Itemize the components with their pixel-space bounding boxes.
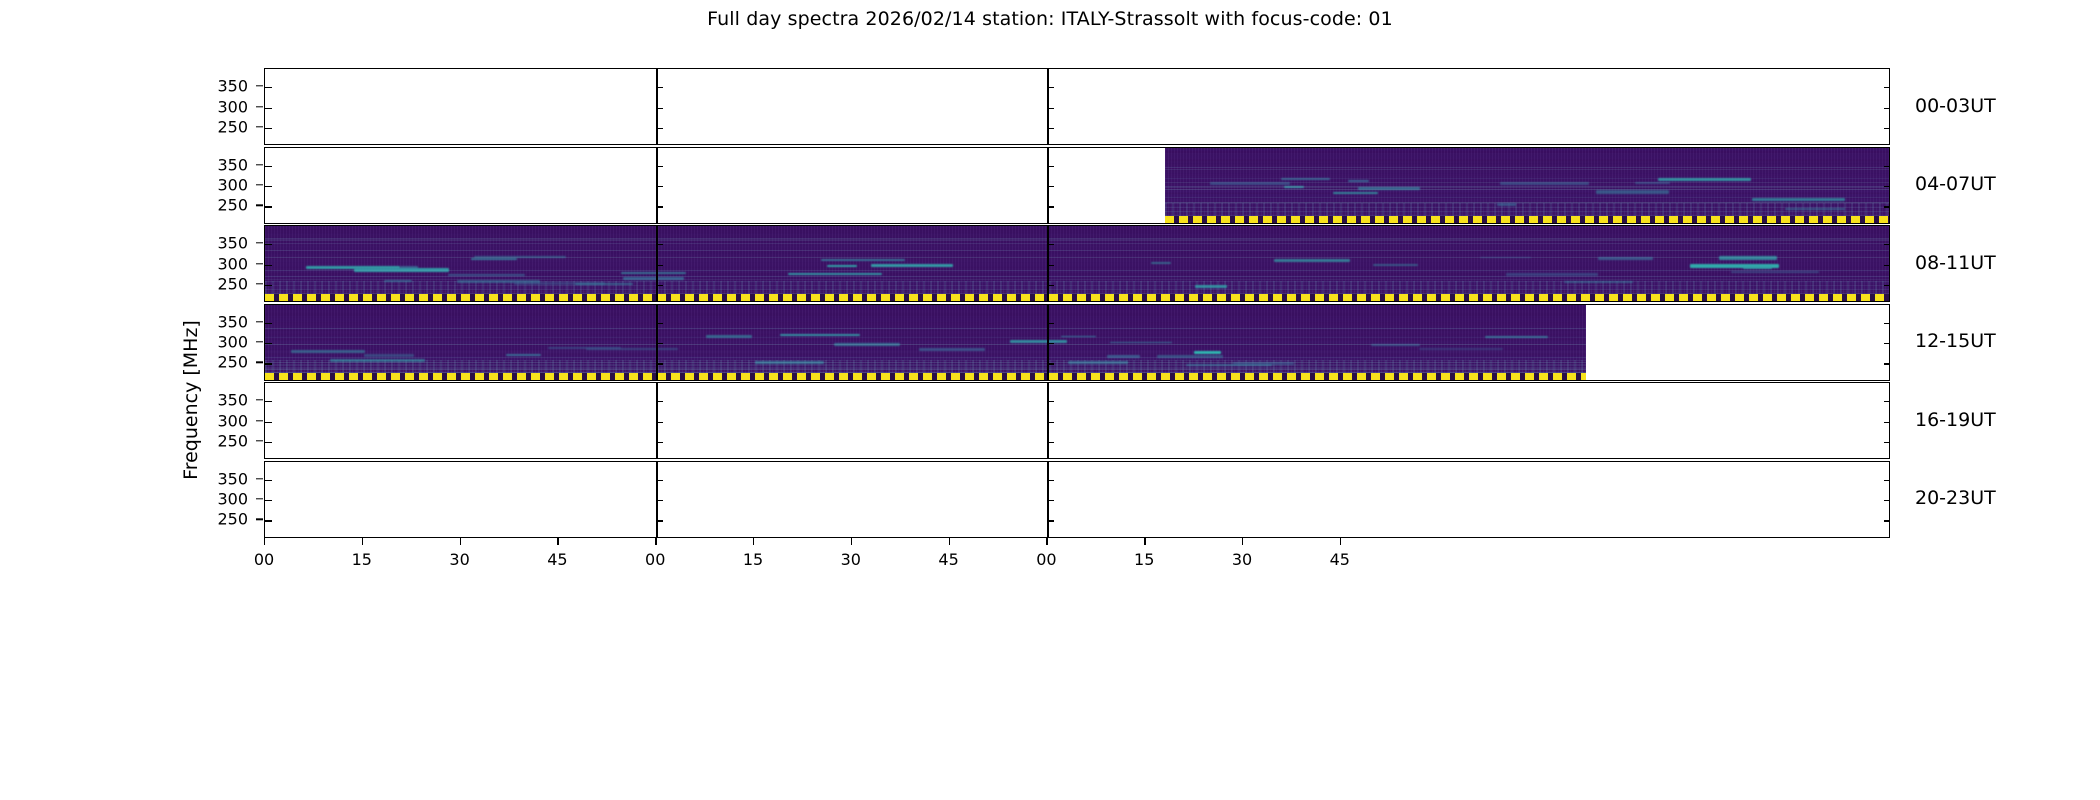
spectrogram-faint-line [265,362,1586,363]
y-tick-mark [1047,265,1054,266]
y-tick-mark [265,206,272,207]
spectrogram-faint-line [265,239,1890,240]
y-tick-mark-outer [256,205,263,206]
y-tick-mark [656,343,663,344]
y-tick-label: 250 [202,353,248,372]
y-tick-mark-outer [256,164,263,165]
y-tick-mark-outer [256,478,263,479]
y-tick-mark-outer [256,126,263,127]
page-title: Full day spectra 2026/02/14 station: ITA… [0,8,2100,30]
spectrogram-panel-00-03ut [264,68,1890,145]
spectrogram-emission-streak [575,283,633,286]
y-tick-mark [1884,442,1890,443]
y-tick-mark-outer [256,362,263,363]
y-tick-label: 300 [202,411,248,430]
row-label-04-07ut: 04-07UT [1915,173,1996,195]
spectrogram-emission-streak [1596,190,1669,193]
x-tick-label: 30 [1232,550,1252,569]
y-tick-mark [1884,323,1890,324]
y-tick-mark-outer [256,321,263,322]
spectrogram-panel-16-19ut [264,382,1890,459]
spectrogram-emission-streak [457,280,540,283]
y-tick-mark [265,186,272,187]
x-tick-label: 45 [938,550,958,569]
event-marker-dashes [265,294,1890,301]
y-tick-mark [1047,323,1054,324]
y-tick-mark [1047,442,1054,443]
x-tick-label: 00 [254,550,274,569]
y-tick-mark-outer [256,106,263,107]
x-tick-mark [264,538,265,545]
y-tick-mark [656,186,663,187]
spectrogram-faint-line [265,240,1890,241]
spectrogram-faint-line [265,250,1890,251]
y-tick-mark [265,500,272,501]
y-tick-mark [1047,422,1054,423]
y-tick-mark [1047,285,1054,286]
y-tick-mark [265,520,272,521]
y-tick-mark [656,87,663,88]
y-tick-label: 300 [202,490,248,509]
spectrogram-data-block [1165,148,1890,223]
y-tick-mark [656,244,663,245]
x-tick-label: 45 [1330,550,1350,569]
y-tick-label: 350 [202,469,248,488]
y-tick-mark [1884,500,1890,501]
spectrogram-emission-streak [919,348,984,351]
y-tick-mark [265,442,272,443]
y-tick-mark [1047,500,1054,501]
y-tick-mark-outer [256,283,263,284]
spectrogram-emission-streak [291,350,365,353]
hour-separator [656,305,658,380]
y-tick-mark [1884,480,1890,481]
spectrogram-panel-04-07ut [264,147,1890,224]
spectrogram-data-block [265,305,1586,380]
y-tick-mark [1884,128,1890,129]
y-tick-mark [1047,206,1054,207]
y-tick-mark [265,480,272,481]
y-tick-mark [1047,108,1054,109]
hour-separator [1047,148,1049,223]
x-tick-mark [851,538,852,545]
hour-separator [1047,462,1049,537]
hour-separator [656,148,658,223]
spectrogram-faint-line [265,344,1586,345]
y-tick-mark [1884,343,1890,344]
y-tick-mark-outer [256,399,263,400]
y-tick-mark [1884,244,1890,245]
spectrogram-panel-20-23ut [264,461,1890,538]
x-tick-label: 45 [547,550,567,569]
y-tick-mark-outer [256,242,263,243]
spectrogram-emission-streak [871,264,953,267]
spectrogram-emission-streak [1419,348,1502,350]
y-tick-mark [656,422,663,423]
y-tick-mark [1047,343,1054,344]
x-tick-mark [362,538,363,545]
y-tick-label: 250 [202,117,248,136]
y-tick-mark [1884,363,1890,364]
y-tick-mark [1047,363,1054,364]
y-tick-label: 300 [202,333,248,352]
spectrogram-faint-line [265,369,1586,370]
hour-separator [656,226,658,301]
y-tick-mark-outer [256,341,263,342]
y-tick-mark [1884,166,1890,167]
y-tick-mark [1047,87,1054,88]
y-tick-label: 250 [202,274,248,293]
spectrogram-figure: Full day spectra 2026/02/14 station: ITA… [0,0,2100,800]
y-tick-mark-outer [256,420,263,421]
hour-separator [1047,226,1049,301]
y-tick-mark [656,285,663,286]
x-tick-mark [1242,538,1243,545]
x-tick-label: 15 [743,550,763,569]
spectrogram-panel-08-11ut [264,225,1890,302]
y-tick-mark [1884,265,1890,266]
y-tick-mark-outer [256,498,263,499]
spectrogram-faint-line [265,279,1890,280]
y-tick-mark [265,323,272,324]
y-tick-mark [265,108,272,109]
y-tick-mark [265,244,272,245]
y-tick-mark [1047,520,1054,521]
row-label-00-03ut: 00-03UT [1915,95,1996,117]
y-tick-mark [656,401,663,402]
spectrogram-faint-line [265,270,1890,271]
x-tick-mark [1144,538,1145,545]
x-tick-mark [460,538,461,545]
spectrogram-faint-line [265,276,1890,277]
y-tick-mark [265,401,272,402]
spectrogram-emission-streak [384,280,413,282]
spectrogram-emission-streak [1274,259,1350,262]
row-label-12-15ut: 12-15UT [1915,330,1996,352]
spectrogram-emission-streak [821,259,905,261]
y-tick-mark [265,363,272,364]
x-tick-mark [1046,538,1047,545]
event-marker-dashes [1165,216,1890,223]
y-tick-mark-outer [256,184,263,185]
spectrogram-emission-streak [1752,198,1845,201]
y-tick-mark [1047,128,1054,129]
y-tick-mark [1047,244,1054,245]
y-tick-label: 350 [202,77,248,96]
y-tick-label: 250 [202,510,248,529]
y-axis-label: Frequency [MHz] [180,320,202,480]
y-tick-mark [656,323,663,324]
spectrogram-emission-streak [621,272,686,274]
y-tick-label: 250 [202,196,248,215]
spectrogram-faint-line [1165,178,1890,179]
y-tick-label: 350 [202,391,248,410]
spectrogram-faint-line [265,337,1586,338]
x-tick-label: 30 [841,550,861,569]
y-tick-mark [265,87,272,88]
y-tick-mark-outer [256,519,263,520]
spectrogram-faint-line [265,328,1586,329]
y-tick-mark [265,128,272,129]
y-tick-mark [656,206,663,207]
hour-separator [1047,69,1049,144]
hour-separator [656,383,658,458]
y-tick-label: 300 [202,97,248,116]
hour-separator [656,462,658,537]
spectrogram-panel-12-15ut [264,304,1890,381]
x-tick-mark [655,538,656,545]
y-tick-mark [1884,87,1890,88]
spectrogram-emission-streak [1373,264,1418,267]
y-tick-mark [1884,422,1890,423]
y-tick-mark [1047,480,1054,481]
y-tick-mark [1884,108,1890,109]
spectrogram-faint-line [1165,186,1890,187]
hour-separator [1047,383,1049,458]
spectrogram-faint-line [265,357,1586,358]
y-tick-mark [656,363,663,364]
spectrogram-emission-streak [1194,351,1221,354]
spectrogram-emission-streak [1195,285,1227,288]
y-tick-mark [1884,285,1890,286]
y-tick-mark [1884,206,1890,207]
y-tick-mark [656,500,663,501]
y-tick-mark [265,265,272,266]
y-tick-mark [265,343,272,344]
x-tick-mark [753,538,754,545]
spectrogram-faint-line [265,257,1890,258]
row-label-16-19ut: 16-19UT [1915,409,1996,431]
spectrogram-faint-line [1165,182,1890,183]
spectrogram-data-block [265,226,1890,301]
y-tick-mark-outer [256,263,263,264]
spectrogram-emission-streak [1010,340,1066,343]
y-tick-mark [1884,520,1890,521]
row-label-08-11ut: 08-11UT [1915,252,1996,274]
x-tick-label: 15 [352,550,372,569]
event-marker-dashes [265,373,1586,380]
x-tick-mark [557,538,558,545]
y-tick-mark [265,166,272,167]
x-tick-label: 00 [645,550,665,569]
y-tick-mark [1047,401,1054,402]
y-tick-mark [1047,186,1054,187]
y-tick-mark-outer [256,440,263,441]
y-tick-mark [656,128,663,129]
spectrogram-emission-streak [548,347,621,349]
y-tick-mark [656,108,663,109]
spectrogram-faint-line [1165,189,1890,190]
x-tick-label: 00 [1036,550,1056,569]
y-tick-mark [1884,186,1890,187]
y-tick-label: 250 [202,431,248,450]
row-label-20-23ut: 20-23UT [1915,487,1996,509]
y-tick-mark [656,442,663,443]
hour-separator [1047,305,1049,380]
spectrogram-faint-line [265,243,1890,244]
y-tick-mark [265,422,272,423]
y-tick-mark [265,285,272,286]
spectrogram-faint-line [265,367,1586,368]
y-tick-mark [656,480,663,481]
hour-separator [656,69,658,144]
spectrogram-faint-line [1165,202,1890,203]
spectrogram-emission-streak [1564,281,1633,283]
spectrogram-emission-streak [1785,208,1845,211]
y-tick-label: 350 [202,312,248,331]
spectrogram-emission-streak [1731,271,1820,274]
y-tick-label: 300 [202,176,248,195]
spectrogram-faint-line [1165,169,1890,170]
x-tick-mark [1340,538,1341,545]
spectrogram-faint-line [1165,197,1890,198]
y-tick-mark [656,265,663,266]
y-tick-label: 350 [202,234,248,253]
x-tick-label: 30 [449,550,469,569]
y-tick-mark [1047,166,1054,167]
y-tick-mark [1884,401,1890,402]
x-tick-mark [949,538,950,545]
x-tick-label: 15 [1134,550,1154,569]
y-tick-mark [656,166,663,167]
spectrogram-emission-streak [1497,203,1516,206]
y-tick-mark [656,520,663,521]
y-tick-mark-outer [256,85,263,86]
y-tick-label: 300 [202,254,248,273]
y-tick-label: 350 [202,155,248,174]
